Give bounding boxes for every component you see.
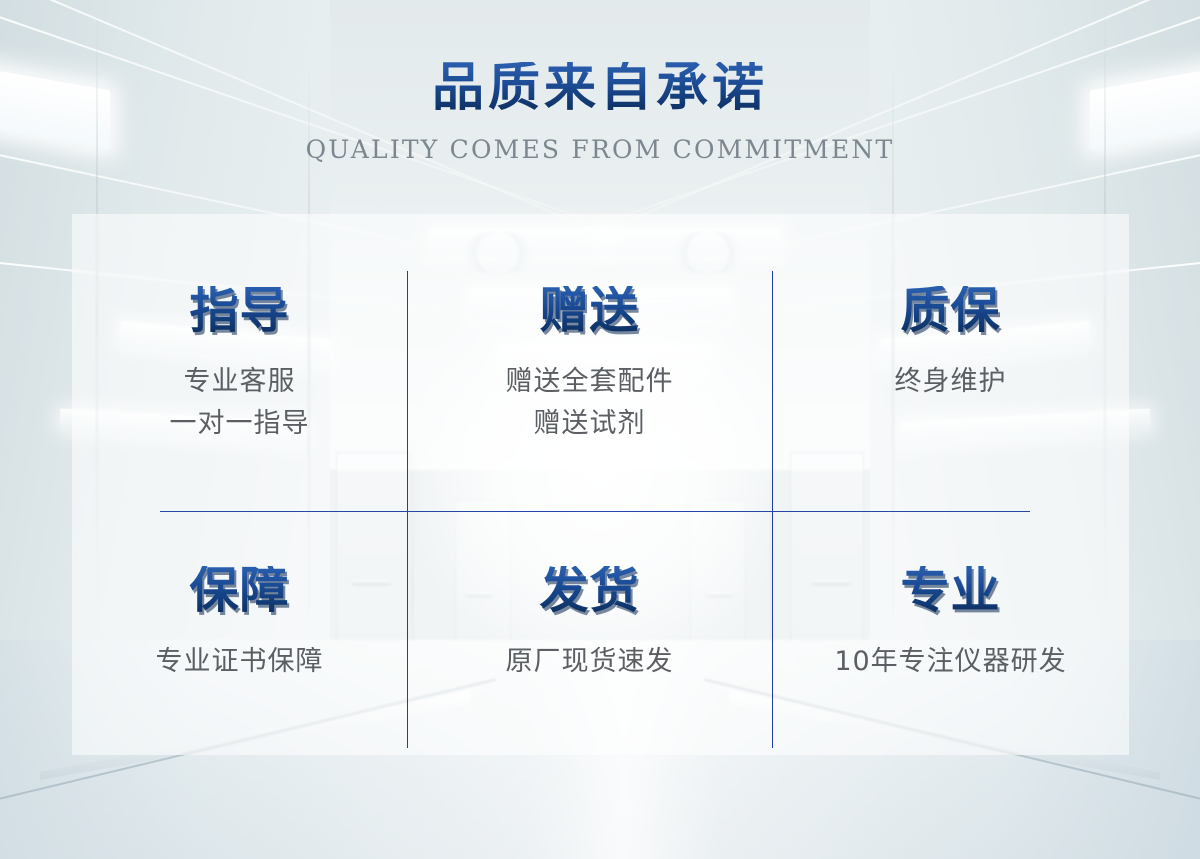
feature-body: 原厂现货速发 [407,641,772,683]
header: 品质来自承诺 QUALITY COMES FROM COMMITMENT [0,0,1200,164]
feature-heading: 指导 [72,286,407,335]
feature-body: 专业客服 一对一指导 [72,361,407,445]
feature-body: 赠送全套配件 赠送试剂 [407,361,772,445]
grid-divider-horizontal [160,511,1030,512]
feature-cell-gift: 赠送 赠送全套配件 赠送试剂 [407,286,772,445]
promo-banner: 品质来自承诺 QUALITY COMES FROM COMMITMENT 指导 … [0,0,1200,859]
feature-cell-shipping: 发货 原厂现货速发 [407,566,772,683]
feature-heading: 质保 [772,286,1129,335]
feature-heading: 保障 [72,566,407,615]
feature-body: 专业证书保障 [72,641,407,683]
feature-grid: 指导 专业客服 一对一指导 赠送 赠送全套配件 赠送试剂 质保 终身维护 保障 … [72,214,1129,755]
feature-cell-assurance: 保障 专业证书保障 [72,566,407,683]
feature-heading: 发货 [407,566,772,615]
page-subtitle: QUALITY COMES FROM COMMITMENT [0,135,1200,164]
feature-heading: 赠送 [407,286,772,335]
feature-cell-guidance: 指导 专业客服 一对一指导 [72,286,407,445]
feature-body: 终身维护 [772,361,1129,403]
feature-heading: 专业 [772,566,1129,615]
page-title: 品质来自承诺 [0,62,1200,114]
feature-body: 10年专注仪器研发 [772,641,1129,683]
feature-cell-warranty: 质保 终身维护 [772,286,1129,403]
feature-cell-expertise: 专业 10年专注仪器研发 [772,566,1129,683]
